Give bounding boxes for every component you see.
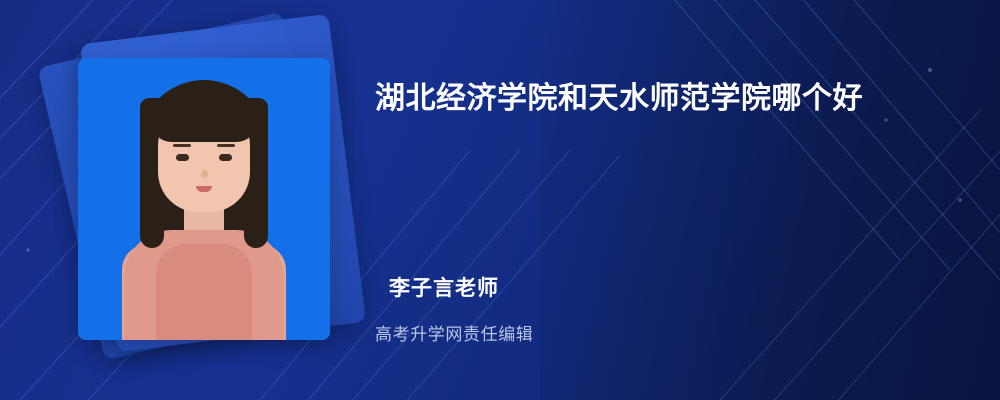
author-role: 高考升学网责任编辑 xyxy=(375,320,533,345)
photo-card-stack xyxy=(40,18,360,383)
portrait-dress-inner xyxy=(156,244,252,340)
author-name: 李子言老师 xyxy=(389,272,499,302)
portrait-nose xyxy=(201,170,208,178)
banner-text-block: 湖北经济学院和天水师范学院哪个好 李子言老师 高考升学网责任编辑 xyxy=(375,0,970,400)
female-teacher-portrait xyxy=(78,58,330,340)
article-cover-banner: 湖北经济学院和天水师范学院哪个好 李子言老师 高考升学网责任编辑 xyxy=(0,0,1000,400)
photo-card-front xyxy=(78,58,330,340)
portrait-eyebrow-right xyxy=(217,144,235,147)
portrait-eye-right xyxy=(219,154,232,161)
portrait-eye-left xyxy=(176,154,189,161)
article-title: 湖北经济学院和天水师范学院哪个好 xyxy=(375,76,970,123)
portrait-eyebrow-left xyxy=(173,144,191,147)
portrait-hair-front xyxy=(152,84,256,142)
